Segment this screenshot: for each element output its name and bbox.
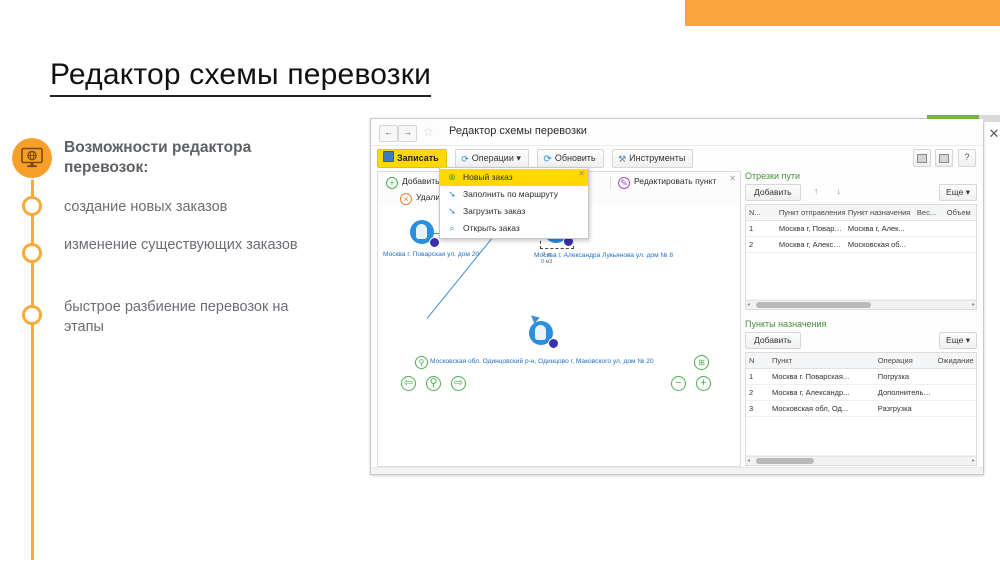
arrow-load-icon: ➘: [446, 203, 458, 220]
chevron-down-icon: ▾: [966, 187, 970, 197]
cell: [935, 385, 976, 401]
destinations-horizontal-scrollbar[interactable]: ◂ ▸: [746, 456, 976, 465]
segments-move-down-button[interactable]: ↓: [832, 184, 846, 199]
zoom-out-icon[interactable]: −: [671, 376, 686, 391]
table-filler-row: [746, 253, 976, 300]
bullet-item-1: создание новых заказов: [64, 197, 319, 217]
segments-more-label: Еще: [946, 187, 963, 197]
cell: Москва г. Поварская...: [769, 369, 875, 385]
menu-item-open-order-label: Открыть заказ: [463, 223, 520, 233]
bullet-item-2: изменение существующих заказов: [64, 235, 319, 255]
column-header: Пункт назначения: [845, 205, 914, 221]
cell: Дополнительна...: [875, 385, 935, 401]
lead-heading: Возможности редактора перевозок:: [64, 138, 314, 179]
window-header: ← → ☆ Редактор схемы перевозки: [371, 119, 983, 146]
segments-move-up-button[interactable]: ↑: [809, 184, 823, 199]
node-badge-icon: [548, 338, 559, 349]
cell: 3: [746, 401, 769, 417]
cell: [944, 237, 976, 253]
operations-dropdown-menu: ✕ ⊕Новый заказ ➘Заполнить по маршруту ➘З…: [439, 167, 589, 239]
edit-circle-icon: ✎: [618, 177, 630, 189]
top-accent-bar: [685, 0, 1000, 26]
column-header: N...: [746, 205, 776, 221]
timeline-node-3: [22, 305, 42, 325]
bullet-item-3: быстрое разбиение перевозок на этапы: [64, 297, 319, 337]
segments-horizontal-scrollbar[interactable]: ◂ ▸: [746, 300, 976, 309]
destinations-panel-toolbar: Добавить Еще ▾: [745, 332, 977, 350]
pin-icon: ⚲: [415, 356, 428, 369]
page-title-text: Редактор схемы перевозки: [50, 58, 431, 97]
cell: [935, 369, 976, 385]
menu-item-load-order-label: Загрузить заказ: [463, 206, 525, 216]
cell: [914, 221, 944, 237]
table-row[interactable]: 1 Москва г. Поварская... Погрузка: [746, 369, 976, 385]
window-footer: [371, 467, 983, 474]
timeline-track: [31, 180, 34, 560]
scheme-node-3-label: Московская обл. Одинцовский р-н, Одинцов…: [430, 358, 654, 365]
destinations-panel: Пункты назначения Добавить Еще ▾ N Пункт…: [745, 319, 977, 465]
zoom-in-icon[interactable]: +: [696, 376, 711, 391]
cell: Погрузка: [875, 369, 935, 385]
menu-item-open-order[interactable]: ⌕Открыть заказ: [440, 220, 588, 237]
plus-circle-icon: +: [386, 177, 398, 189]
table-glyph: [939, 154, 949, 163]
table-header-row: N Пункт Операция Ожидание: [746, 353, 976, 369]
report-glyph: [917, 154, 927, 163]
application-window: ✕ ← → ☆ Редактор схемы перевозки Записат…: [370, 118, 984, 475]
magnifier-icon: ⌕: [446, 220, 458, 237]
toolbar-right-group: ?: [911, 149, 976, 167]
table-row[interactable]: 3 Московская обл, Од... Разгрузка: [746, 401, 976, 417]
cell: Московская обл, Од...: [769, 401, 875, 417]
help-icon[interactable]: ?: [958, 149, 976, 167]
scrollbar-thumb[interactable]: [756, 302, 871, 308]
favorite-star-icon[interactable]: ☆: [423, 125, 434, 139]
timeline-node-2: [22, 243, 42, 263]
toolbar-divider: [610, 176, 611, 190]
plus-circle-icon: ⊕: [446, 169, 458, 186]
cell: [914, 237, 944, 253]
pan-left-icon[interactable]: ⇦: [401, 376, 416, 391]
cell: [944, 221, 976, 237]
scroll-right-icon[interactable]: ▸: [972, 457, 975, 465]
canvas-close-icon[interactable]: ✕: [729, 174, 736, 183]
pin-icon[interactable]: ⚲: [426, 376, 441, 391]
chevron-down-icon: ▾: [516, 153, 521, 163]
menu-item-fill-by-route-label: Заполнить по маршруту: [463, 189, 558, 199]
canvas-edit-point-label: Редактировать пункт: [634, 176, 716, 186]
table-header-row: N... Пункт отправления Пункт назначения …: [746, 205, 976, 221]
table-filler-row: [746, 417, 976, 456]
table-row[interactable]: 2 Москва г, Алекса... Московская об...: [746, 237, 976, 253]
forward-button[interactable]: →: [398, 125, 417, 142]
scroll-left-icon[interactable]: ◂: [747, 301, 750, 309]
column-header: Операция: [875, 353, 935, 369]
cell: [935, 401, 976, 417]
refresh-icon: ⟳: [543, 155, 551, 164]
report-icon[interactable]: [913, 149, 931, 167]
scheme-node-3[interactable]: [529, 321, 555, 347]
segments-panel-toolbar: Добавить ↑ ↓ Еще ▾: [745, 184, 977, 202]
cell: 1: [746, 221, 776, 237]
tools-icon: ⚒: [618, 155, 626, 164]
operations-button[interactable]: ⟳Операции ▾: [455, 149, 529, 168]
column-header: Пункт: [769, 353, 875, 369]
delete-circle-icon: ×: [400, 193, 412, 205]
column-header: N: [746, 353, 769, 369]
arrow-fill-icon: ➘: [446, 186, 458, 203]
page-title: Редактор схемы перевозки: [50, 58, 431, 92]
refresh-button-label: Обновить: [555, 153, 596, 163]
destinations-table[interactable]: N Пункт Операция Ожидание 1 Москва г. По…: [745, 352, 977, 466]
cell: Москва г, Александр...: [769, 385, 875, 401]
save-button[interactable]: Записать: [377, 149, 447, 168]
cell: 1: [746, 369, 769, 385]
cell: Разгрузка: [875, 401, 935, 417]
column-header: Пункт отправления: [776, 205, 845, 221]
save-icon: [383, 151, 394, 162]
save-button-label: Записать: [397, 153, 439, 163]
menu-item-fill-by-route[interactable]: ➘Заполнить по маршруту: [440, 186, 588, 203]
cell: 2: [746, 237, 776, 253]
scheme-node-1[interactable]: [410, 220, 436, 246]
column-header: Ожидание: [935, 353, 976, 369]
destinations-add-button[interactable]: Добавить: [745, 332, 801, 349]
cell: Москва г, Алек...: [845, 221, 914, 237]
scroll-right-icon[interactable]: ▸: [972, 301, 975, 309]
canvas-edit-point-button[interactable]: ✎Редактировать пункт: [618, 176, 716, 189]
destinations-panel-title: Пункты назначения: [745, 319, 977, 329]
menu-item-load-order[interactable]: ➘Загрузить заказ: [440, 203, 588, 220]
tools-button-label: Инструменты: [629, 153, 685, 163]
scheme-node-1-label: Москва г. Поварская ул. дом 20: [383, 251, 479, 258]
table-row[interactable]: 1 Москва г, Поварс... Москва г, Алек...: [746, 221, 976, 237]
monitor-globe-icon: [12, 138, 52, 178]
cell: 2: [746, 385, 769, 401]
timeline-node-1: [22, 196, 42, 216]
scheme-node-2-label: Москва г. Александра Лукьянова ул. дом №…: [534, 252, 673, 259]
close-icon[interactable]: ✕: [987, 127, 1000, 141]
table-icon[interactable]: [935, 149, 953, 167]
menu-close-icon[interactable]: ✕: [578, 169, 585, 178]
refresh-button[interactable]: ⟳Обновить: [537, 149, 603, 168]
cell: Московская об...: [845, 237, 914, 253]
segments-more-button[interactable]: Еще ▾: [939, 184, 977, 201]
segments-table[interactable]: N... Пункт отправления Пункт назначения …: [745, 204, 977, 310]
scrollbar-thumb[interactable]: [756, 458, 814, 464]
menu-item-new-order[interactable]: ⊕Новый заказ: [440, 169, 588, 186]
segments-panel: Отрезки пути Добавить ↑ ↓ Еще ▾ N... Пун…: [745, 171, 977, 315]
canvas-add-label: Добавить: [402, 176, 440, 186]
segments-panel-title: Отрезки пути: [745, 171, 977, 181]
cell: Москва г, Алекса...: [776, 237, 845, 253]
segments-add-button[interactable]: Добавить: [745, 184, 801, 201]
operations-icon: ⟳: [461, 155, 469, 164]
menu-item-new-order-label: Новый заказ: [463, 172, 513, 182]
operations-button-label: Операции: [472, 153, 514, 163]
fit-icon[interactable]: ⊞: [694, 355, 709, 370]
window-title: Редактор схемы перевозки: [449, 125, 587, 137]
pan-right-icon[interactable]: ⇨: [451, 376, 466, 391]
scheme-canvas[interactable]: 0 кг 0 м3 0 кг 0 м3 Москва г. Поварская …: [378, 206, 740, 465]
back-button[interactable]: ←: [379, 125, 398, 142]
canvas-add-button[interactable]: +Добавить: [386, 176, 440, 189]
tools-button[interactable]: ⚒Инструменты: [612, 149, 693, 168]
destinations-more-label: Еще: [946, 335, 963, 345]
destinations-more-button[interactable]: Еще ▾: [939, 332, 977, 349]
cell: Москва г, Поварс...: [776, 221, 845, 237]
table-row[interactable]: 2 Москва г, Александр... Дополнительна..…: [746, 385, 976, 401]
edge-2-volume: 0 м3: [541, 259, 552, 265]
column-header: Объем: [944, 205, 976, 221]
chevron-down-icon: ▾: [966, 335, 970, 345]
scroll-left-icon[interactable]: ◂: [747, 457, 750, 465]
column-header: Вес...: [914, 205, 944, 221]
edge-2-line: [426, 236, 493, 318]
